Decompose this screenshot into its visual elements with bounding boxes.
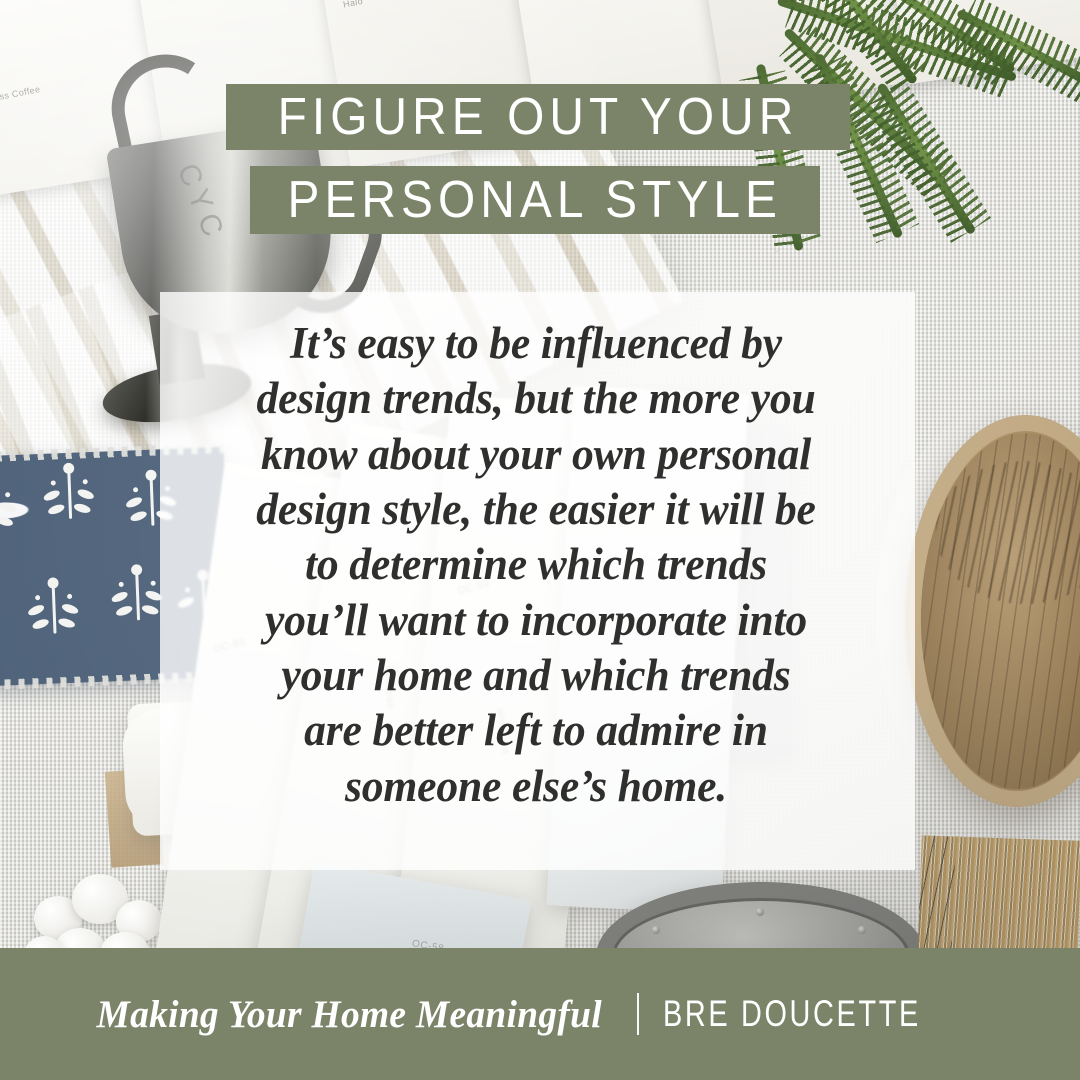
- footer-content: Making Your Home Meaningful BRE DOUCETTE: [86, 992, 993, 1037]
- quote-line: you’ll want to incorporate into: [187, 593, 885, 648]
- quote-line: It’s easy to be influenced by: [187, 316, 885, 371]
- quote-line: design style, the easier it will be: [187, 482, 885, 537]
- title-banner-line2: PERSONAL STYLE: [250, 166, 820, 234]
- quote-text: It’s easy to be influenced by design tre…: [187, 316, 885, 814]
- quote-line: to determine which trends: [187, 537, 885, 592]
- footer-brand-text: Making Your Home Meaningful: [97, 992, 602, 1037]
- quote-line: your home and which trends: [187, 648, 885, 703]
- quote-graphic-canvas: Swiss Coffee OC 46 Halo OC 47 Ashwood 48: [0, 0, 1080, 1080]
- quote-line: design trends, but the more you: [187, 371, 885, 426]
- footer-divider: [637, 993, 639, 1035]
- title-line2-text: PERSONAL STYLE: [288, 174, 782, 226]
- title-line1-text: FIGURE OUT YOUR: [278, 91, 799, 143]
- title-banner-line1: FIGURE OUT YOUR: [226, 84, 850, 150]
- footer-author-text: BRE DOUCETTE: [663, 993, 921, 1035]
- quote-line: know about your own personal: [187, 427, 885, 482]
- quote-line: someone else’s home.: [187, 759, 885, 814]
- quote-line: are better left to admire in: [187, 703, 885, 758]
- footer-bar: Making Your Home Meaningful BRE DOUCETTE: [0, 948, 1080, 1080]
